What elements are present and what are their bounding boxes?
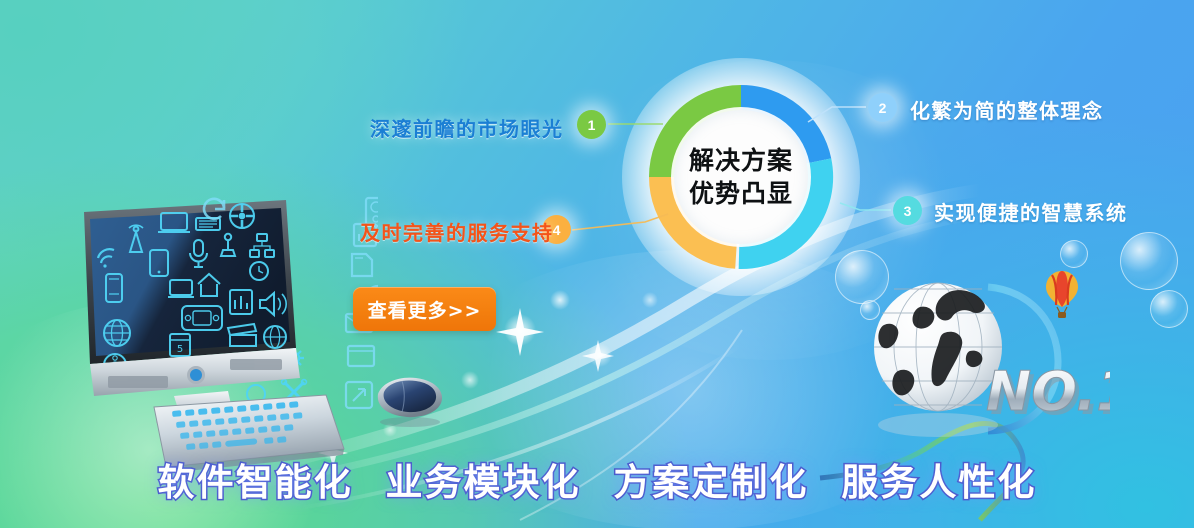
callout-text-3: 实现便捷的智慧系统 xyxy=(934,197,1128,226)
mouse-illustration xyxy=(372,372,448,428)
monitor-illustration: 5 xyxy=(78,196,378,426)
tagline: 软件智能化 业务模块化 方案定制化 服务人性化 xyxy=(0,452,1194,506)
tagline-segment-4: 服务人性化 xyxy=(841,461,1036,504)
svg-text:NO.1: NO.1 xyxy=(986,360,1110,423)
callout-text-4: 及时完善的服务支持 xyxy=(360,217,554,246)
globe-illustration: NO.1 NO.1 xyxy=(860,255,1110,470)
fan-icon xyxy=(230,204,254,228)
hot-air-balloon-icon xyxy=(1046,271,1078,318)
callout-badge-1[interactable]: 1 xyxy=(577,110,606,139)
callout-badge-2[interactable]: 2 xyxy=(868,93,897,122)
callout-text-2: 化繁为简的整体理念 xyxy=(910,95,1104,124)
donut-center-line-1: 解决方案 xyxy=(689,146,793,176)
bubble xyxy=(1150,290,1188,328)
donut-chart: 解决方案 优势凸显 xyxy=(648,84,834,270)
tagline-segment-2: 业务模块化 xyxy=(386,461,581,504)
donut-center-line-2: 优势凸显 xyxy=(689,179,793,209)
no1-badge: NO.1 NO.1 xyxy=(986,360,1110,427)
tagline-segment-3: 方案定制化 xyxy=(613,461,808,504)
sd-card-icon xyxy=(352,254,372,276)
promo-banner: 5 xyxy=(0,0,1194,528)
bubble xyxy=(1120,232,1178,290)
view-more-button[interactable]: 查看更多>> xyxy=(353,287,496,331)
tagline-segment-1: 软件智能化 xyxy=(158,461,353,504)
cursor-window-icon xyxy=(346,382,372,408)
callout-badge-3[interactable]: 3 xyxy=(893,196,922,225)
donut-center-label: 解决方案 优势凸显 xyxy=(674,110,808,244)
svg-text:5: 5 xyxy=(177,344,183,355)
window-icon xyxy=(348,346,374,366)
callout-text-1: 深邃前瞻的市场眼光 xyxy=(370,113,564,142)
